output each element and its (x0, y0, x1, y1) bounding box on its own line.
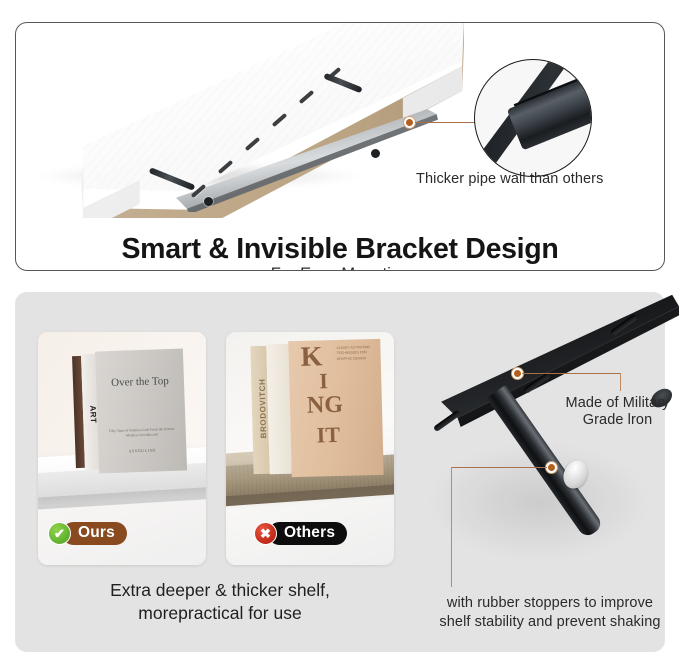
badge-ours-label: Ours (62, 522, 127, 545)
top-panel: Thicker pipe wall than others Smart & In… (15, 22, 665, 271)
check-circle-icon: ✔ (48, 522, 71, 545)
comparison-caption-line2: morepractical for use (25, 602, 415, 625)
others-book-line1: K (300, 344, 322, 370)
badge-others: ✖ Others (254, 522, 347, 545)
callout-dot-icon (404, 117, 415, 128)
magnifier-callout-label: Thicker pipe wall than others (416, 171, 603, 187)
infographic-page: Thicker pipe wall than others Smart & In… (0, 0, 679, 668)
others-book-line4: IT (316, 422, 340, 449)
rail-hole (204, 197, 213, 206)
ours-book-brand: ASSOULINE (98, 446, 186, 454)
callout-connector-line (451, 467, 547, 468)
bracket-callout-bottom-line1: with rubber stoppers to improve (425, 595, 675, 611)
metal-bracket-rail-illustration (168, 102, 438, 212)
ours-book-subtitle: Fifty Years of Fashion Craft From the Ho… (106, 427, 178, 440)
ours-book-cover: Over the Top Fifty Years of Fashion Craf… (95, 349, 187, 474)
comparison-card-ours: ART Over the Top Fifty Years of Fashion … (38, 332, 206, 565)
black-t-bracket-illustration (404, 292, 679, 582)
callout-connector-line-vertical (451, 467, 452, 587)
others-book-cover: K ALEXEY ACTIVATING TECHNIQUES FOR GRAPH… (288, 339, 384, 477)
callout-connector-line (522, 373, 620, 374)
rail-slot (218, 160, 233, 174)
page-subtitle: For Easy Mounting (16, 265, 664, 271)
bracket-callout-top-line1: Made of Military (560, 394, 675, 414)
others-book-meta: ALEXEY ACTIVATING TECHNIQUES FOR GRAPHIC… (336, 345, 376, 362)
bracket-callout-top-line2: Grade lron (560, 412, 675, 428)
page-title: Smart & Invisible Bracket Design (16, 233, 664, 266)
badge-others-label: Others (268, 522, 347, 545)
rail-slot (245, 137, 260, 151)
callout-connector-line (415, 122, 475, 123)
x-circle-icon: ✖ (254, 522, 277, 545)
bracket-callout-bottom-line2: shelf stability and prevent shaking (425, 614, 675, 630)
callout-dot-icon (546, 462, 557, 473)
rail-slot (272, 113, 287, 127)
others-book-line3: NG (307, 392, 344, 420)
ours-book-title: Over the Top (96, 374, 184, 389)
magnifier-circle-detail (474, 59, 592, 177)
comparison-card-others: BRODOVITCH K ALEXEY ACTIVATING TECHNIQUE… (226, 332, 394, 565)
bracket-plate-slot (433, 410, 461, 432)
rail-hole (371, 149, 380, 158)
callout-connector-line-vertical (620, 373, 621, 391)
badge-ours: ✔ Ours (48, 522, 127, 545)
comparison-caption-line1: Extra deeper & thicker shelf, (25, 579, 415, 602)
rail-body (168, 102, 438, 212)
others-book-line2: I (319, 368, 328, 394)
